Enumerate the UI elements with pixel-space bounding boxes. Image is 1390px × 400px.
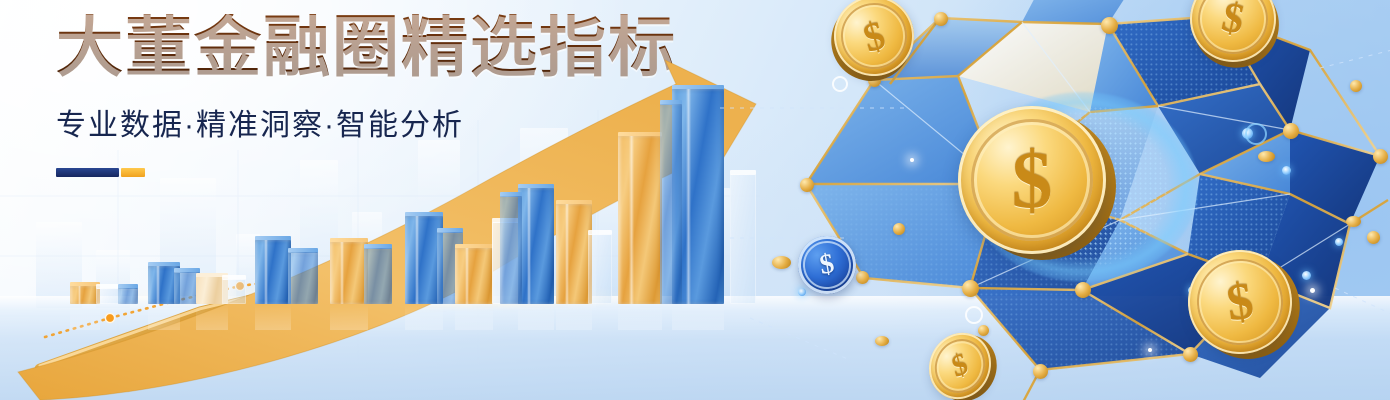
bar-blue-7	[518, 188, 554, 304]
network-node	[893, 223, 905, 235]
network-node	[1183, 347, 1198, 362]
floating-bead	[772, 256, 791, 269]
bar-gold-4	[330, 242, 368, 304]
network-node	[1283, 123, 1299, 139]
network-node	[1101, 17, 1118, 34]
sparkle	[1148, 348, 1152, 352]
network-node	[1367, 231, 1380, 244]
network-graphic: $ $ $ $ $ $	[790, 0, 1390, 400]
network-ring-node	[832, 76, 848, 92]
network-node-glow	[798, 288, 806, 296]
network-node	[1075, 282, 1091, 298]
bar-blue-1	[118, 288, 138, 304]
floating-bead	[875, 336, 889, 346]
network-node	[934, 12, 948, 26]
bar-ghost-8	[588, 234, 612, 304]
network-node	[1350, 80, 1362, 92]
bar-blue-7b	[500, 196, 522, 304]
coin-center: $	[958, 106, 1106, 254]
bar-blue-3b	[288, 252, 318, 304]
network-node	[978, 325, 989, 336]
bar-gold-8	[556, 204, 592, 304]
network-node	[800, 178, 814, 192]
bar-gold-6	[455, 248, 493, 304]
floating-bead	[1258, 151, 1275, 162]
bar-blue-3	[255, 240, 291, 304]
bar-gold-9	[618, 136, 662, 304]
bar-ghost-2	[222, 279, 246, 304]
bar-blue-4	[364, 248, 392, 304]
network-ring-node	[965, 306, 983, 324]
network-node	[856, 271, 869, 284]
bar-blue-10b	[660, 104, 682, 304]
network-node	[1373, 149, 1388, 164]
finance-banner: 大董金融圈精选指标 专业数据·精准洞察·智能分析	[0, 0, 1390, 400]
network-node	[962, 280, 979, 297]
network-node-glow	[1282, 166, 1291, 175]
network-node-glow	[1335, 238, 1343, 246]
sparkle	[1310, 288, 1315, 293]
network-node	[1033, 364, 1048, 379]
network-node-glow	[1302, 271, 1311, 280]
sparkle	[910, 158, 914, 162]
floating-bead	[1346, 216, 1361, 227]
network-ring-node	[1245, 123, 1267, 145]
bar-ghost-11	[730, 174, 756, 304]
